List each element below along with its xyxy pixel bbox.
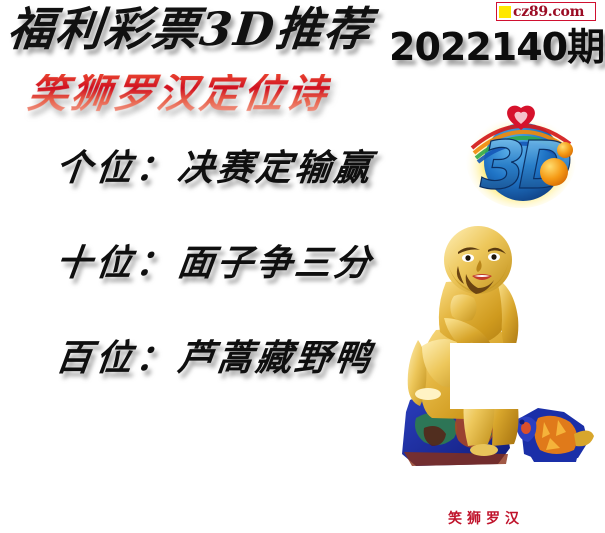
poem-phrase: 芦蒿藏野鸭 <box>175 337 375 379</box>
issue-number: 2022140期 <box>389 16 604 71</box>
illustration-caption: 笑狮罗汉 <box>436 508 536 528</box>
poem-position-label: 百位 <box>53 337 138 379</box>
poem-separator: ： <box>133 337 180 379</box>
poem-phrase: 决赛定输赢 <box>175 147 375 189</box>
poem-position-label: 个位 <box>53 147 138 189</box>
page-title: 福利彩票3D推荐 <box>6 6 375 52</box>
poem-line-ones: 个位：决赛定输赢 <box>54 150 375 186</box>
poem-position-label: 十位 <box>53 242 138 284</box>
poem-phrase: 面子争三分 <box>175 242 375 284</box>
page-subtitle: 笑狮罗汉定位诗 <box>25 74 332 114</box>
lottery-recommendation-page: cz89.com 福利彩票3D推荐 2022140期 笑狮罗汉定位诗 个位：决赛… <box>0 0 605 533</box>
poem-line-tens: 十位：面子争三分 <box>54 245 375 281</box>
poem-line-hundreds: 百位：芦蒿藏野鸭 <box>54 340 375 376</box>
3d-lottery-logo-icon: 3 D <box>462 100 580 210</box>
poem-separator: ： <box>133 242 180 284</box>
blank-number-box <box>450 343 532 409</box>
poem-separator: ： <box>133 147 180 189</box>
